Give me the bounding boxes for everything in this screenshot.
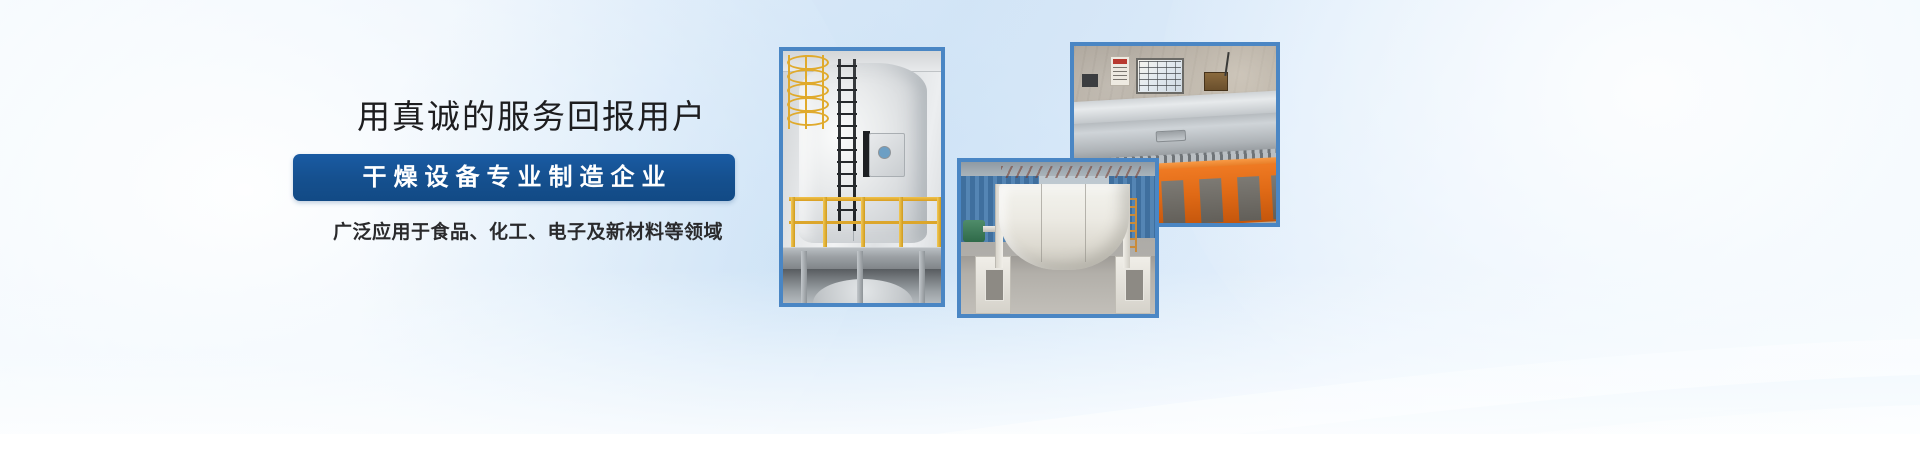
spray-dryer-scene xyxy=(783,51,941,303)
photo-collage xyxy=(0,0,1920,460)
ribbon-mixer-photo[interactable] xyxy=(957,158,1159,318)
spray-dryer-photo[interactable] xyxy=(779,47,945,307)
ladder-safety-cage xyxy=(787,55,825,129)
banner-tagline-label: 干燥设备专业制造企业 xyxy=(356,166,673,190)
banner-headline: 用真诚的服务回报用户 xyxy=(293,100,753,133)
platform-railing xyxy=(789,197,945,253)
banner-subline: 广泛应用于食品、化工、电子及新材料等领域 xyxy=(293,223,753,242)
drive-motor xyxy=(963,220,985,242)
ribbon-mixer-scene xyxy=(961,162,1155,314)
hero-banner: 用真诚的服务回报用户 干燥设备专业制造企业 广泛应用于食品、化工、电子及新材料等… xyxy=(0,0,1920,460)
bottom-white-band xyxy=(0,434,1920,460)
orange-support-frame xyxy=(1147,162,1280,227)
banner-tagline-pill: 干燥设备专业制造企业 xyxy=(293,154,735,201)
banner-text-block: 用真诚的服务回报用户 干燥设备专业制造企业 广泛应用于食品、化工、电子及新材料等… xyxy=(293,100,753,242)
